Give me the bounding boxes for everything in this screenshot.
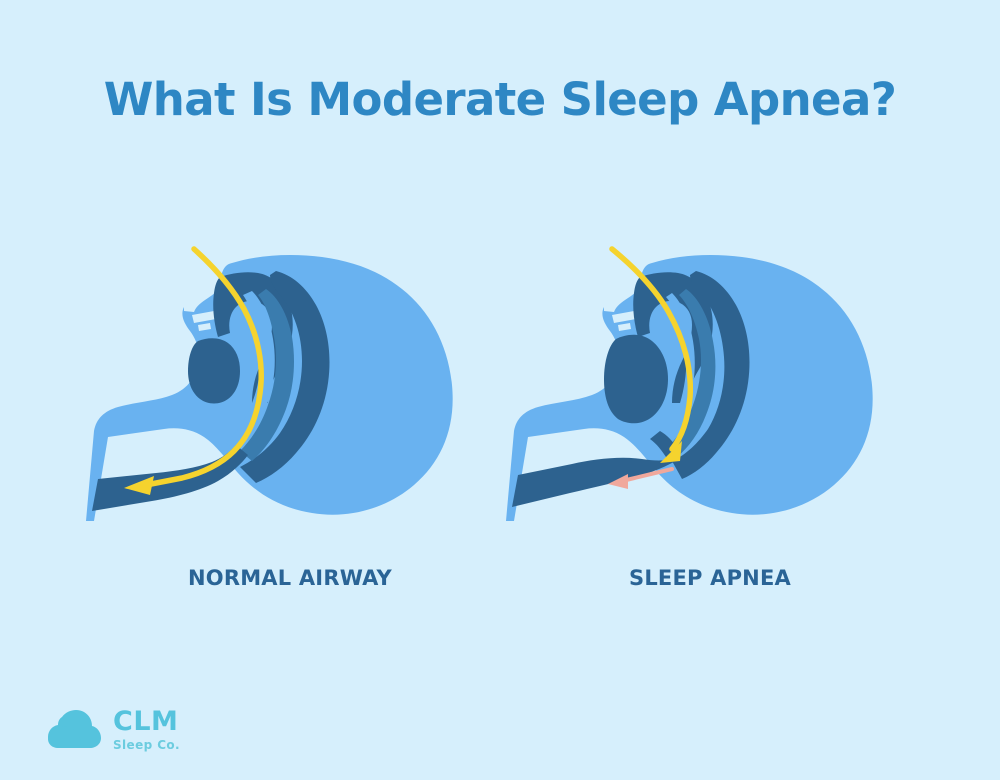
diagram-sleep-apnea (500, 245, 920, 535)
collapsed-tongue (604, 335, 668, 424)
logo-name: CLM (113, 708, 180, 736)
diagram-normal-airway (80, 245, 500, 535)
caption-sleep-apnea: SLEEP APNEA (500, 563, 920, 593)
page-title: What Is Moderate Sleep Apnea? (0, 72, 1000, 128)
sleep-apnea-illustration (500, 245, 920, 535)
tongue (188, 338, 240, 403)
brand-logo[interactable]: CLM Sleep Co. (46, 700, 180, 758)
caption-normal-airway: NORMAL AIRWAY (80, 563, 500, 593)
logo-text-block: CLM Sleep Co. (113, 706, 180, 753)
normal-airway-illustration (80, 245, 500, 535)
collapsed-trachea (512, 458, 674, 507)
infographic-canvas: What Is Moderate Sleep Apnea? (0, 0, 1000, 780)
cloud-icon (46, 707, 104, 751)
logo-tagline: Sleep Co. (113, 737, 180, 753)
